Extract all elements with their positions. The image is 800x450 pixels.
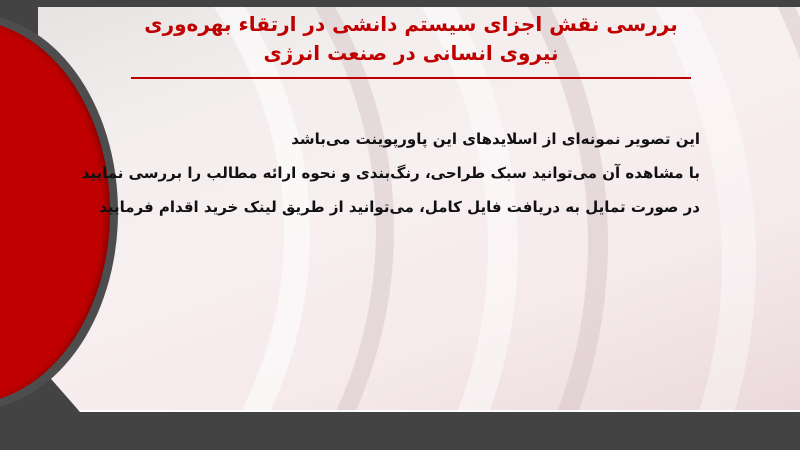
presentation-slide: بررسی نقش اجزای سیستم دانشی در ارتقاء به…: [0, 0, 800, 450]
title-underline-rule: [131, 77, 691, 79]
slide-body-text: این تصویر نمونه‌ای از اسلایدهای این پاور…: [120, 122, 700, 224]
body-line-3: در صورت تمایل به دریافت فایل کامل، می‌تو…: [120, 190, 700, 224]
body-line-1: این تصویر نمونه‌ای از اسلایدهای این پاور…: [120, 122, 700, 156]
body-line-2: با مشاهده آن می‌توانید سبک طراحی، رنگ‌بن…: [120, 156, 700, 190]
title-line-1: بررسی نقش اجزای سیستم دانشی در ارتقاء به…: [130, 10, 692, 39]
slide-title: بررسی نقش اجزای سیستم دانشی در ارتقاء به…: [130, 10, 692, 68]
title-line-2: نیروی انسانی در صنعت انرژی: [130, 39, 692, 68]
